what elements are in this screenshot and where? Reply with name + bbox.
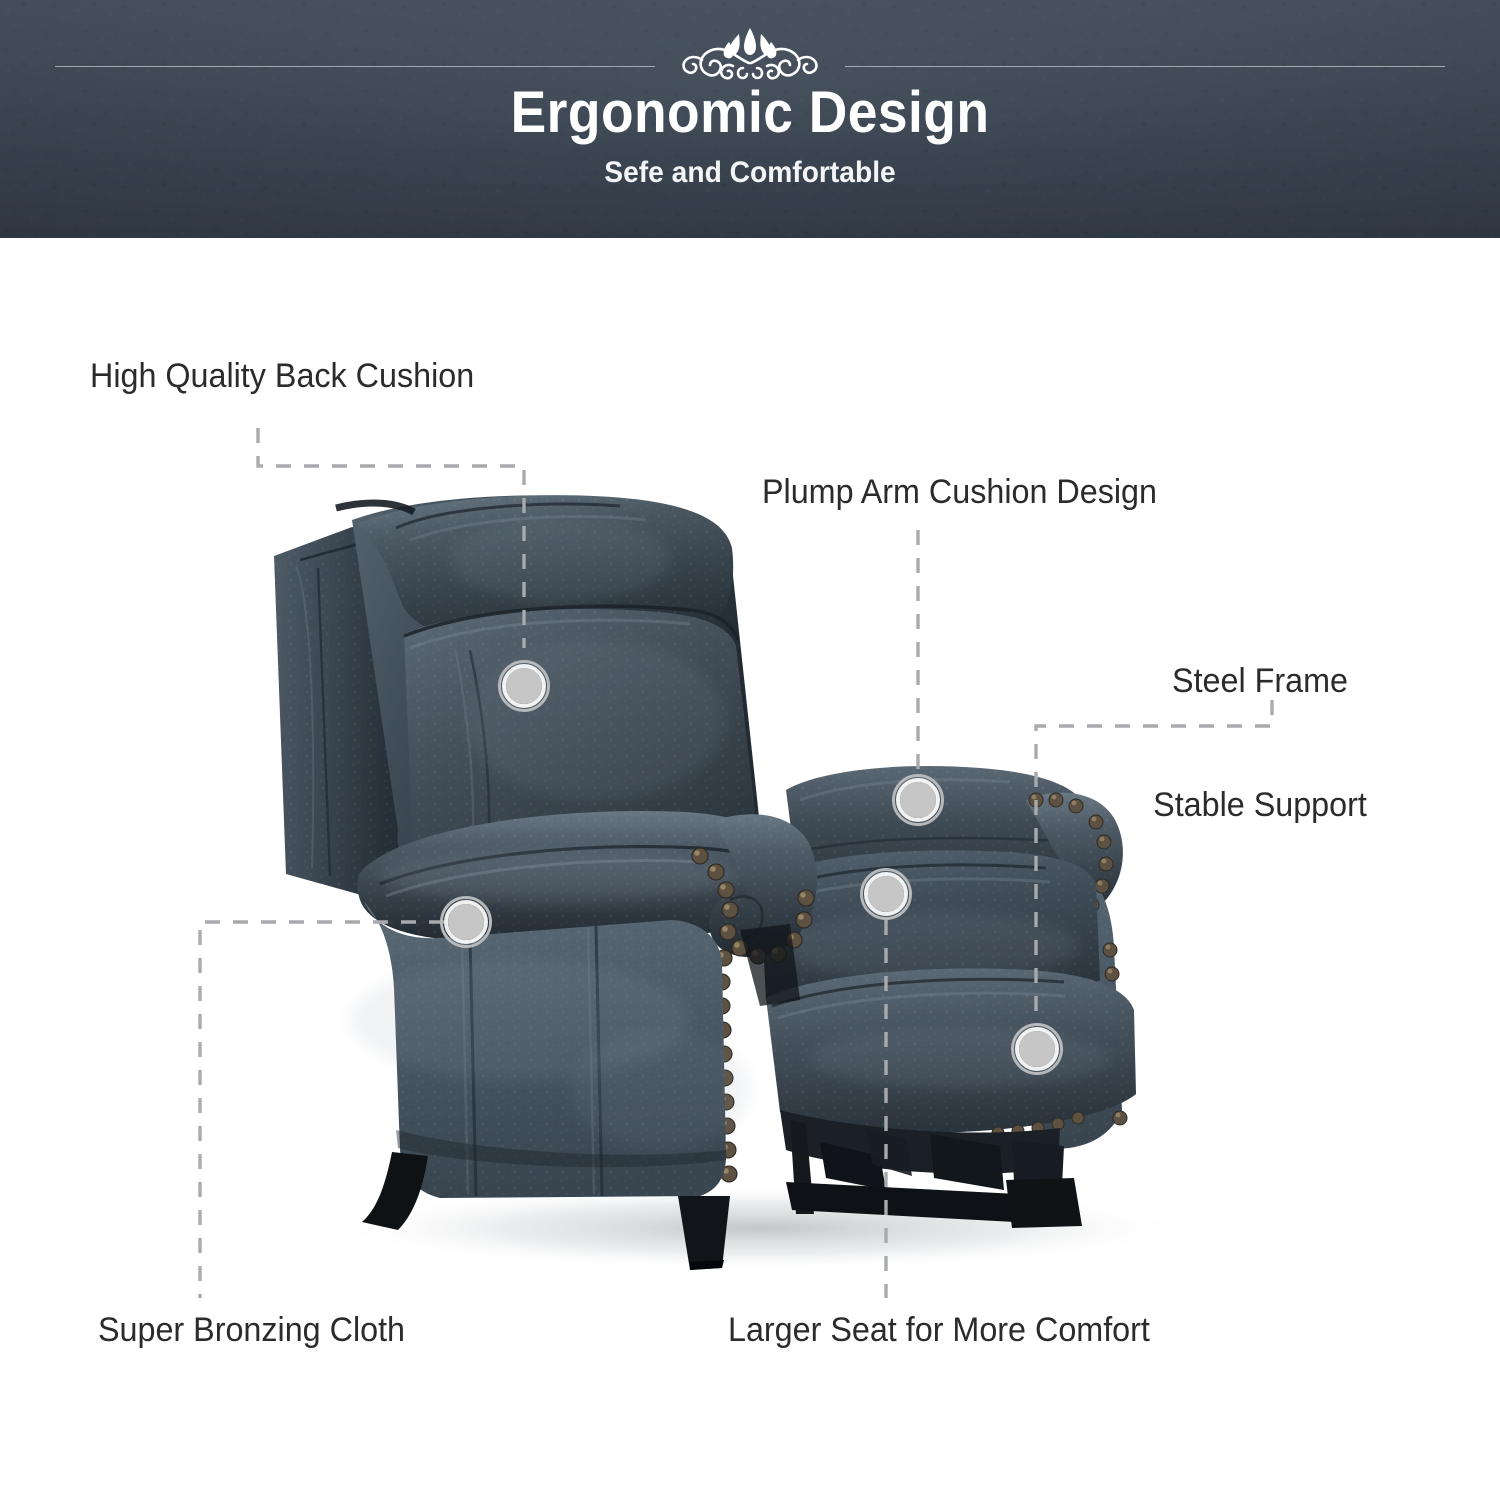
infographic-page: Ergonomic Design Sefe and Comfortable	[0, 0, 1500, 1500]
leader-back-cushion	[258, 428, 524, 648]
callout-label-steel-frame-line1: Steel Frame	[1099, 661, 1422, 702]
callout-dot-icon-steel-frame[interactable]	[1011, 1023, 1063, 1075]
leader-bronzing-cloth	[200, 922, 444, 1298]
callout-label-arm-cushion: Plump Arm Cushion Design	[762, 472, 1157, 513]
callout-label-bronzing-cloth: Super Bronzing Cloth	[98, 1310, 405, 1351]
callout-dot-icon-larger-seat[interactable]	[860, 868, 912, 920]
callout-dot-icon-bronzing-cloth[interactable]	[440, 896, 492, 948]
callout-dot-icon-arm-cushion[interactable]	[892, 774, 944, 826]
callout-label-larger-seat: Larger Seat for More Comfort	[728, 1310, 1150, 1351]
callout-label-steel-frame-line2: Stable Support	[1099, 785, 1422, 826]
callout-label-back-cushion: High Quality Back Cushion	[90, 356, 474, 397]
callout-dot-icon-back-cushion[interactable]	[498, 660, 550, 712]
callout-label-steel-frame: Steel Frame Stable Support	[1099, 578, 1422, 910]
